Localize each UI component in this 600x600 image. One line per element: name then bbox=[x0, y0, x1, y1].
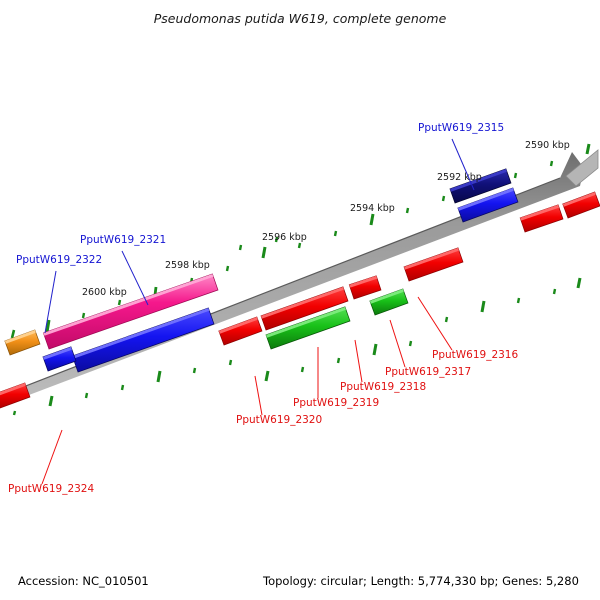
gene-label-PputW619_2321[interactable]: PputW619_2321 bbox=[80, 234, 166, 246]
gene-label-PputW619_2322[interactable]: PputW619_2322 bbox=[16, 254, 102, 266]
tick-label: 2590 kbp bbox=[525, 140, 570, 151]
label-leader-line bbox=[355, 340, 362, 382]
feature-body bbox=[43, 347, 76, 371]
label-leader-line bbox=[42, 430, 62, 484]
gene-right-red-a[interactable] bbox=[520, 205, 563, 232]
gene-label-PputW619_2315[interactable]: PputW619_2315 bbox=[418, 122, 504, 134]
accession-text: Accession: NC_010501 bbox=[18, 574, 149, 588]
tick-label: 2592 kbp bbox=[437, 172, 482, 183]
gene-label-PputW619_2319[interactable]: PputW619_2319 bbox=[293, 397, 379, 409]
gene-label-PputW619_2317[interactable]: PputW619_2317 bbox=[385, 366, 471, 378]
genome-stats-text: Topology: circular; Length: 5,774,330 bp… bbox=[262, 574, 579, 588]
gene-2324-red[interactable] bbox=[0, 383, 30, 408]
label-leader-line bbox=[45, 271, 56, 333]
label-leader-line bbox=[255, 376, 262, 415]
gene-2316-red[interactable] bbox=[404, 248, 463, 281]
gene-2317-red[interactable] bbox=[349, 276, 381, 299]
gene-orange[interactable] bbox=[5, 330, 40, 355]
tick-label: 2598 kbp bbox=[165, 260, 210, 271]
feature-body bbox=[349, 276, 381, 299]
page-title: Pseudomonas putida W619, complete genome bbox=[154, 11, 447, 26]
gene-2317-green[interactable] bbox=[370, 289, 408, 315]
feature-body bbox=[5, 330, 40, 355]
genome-map-viewer: Pseudomonas putida W619, complete genome bbox=[0, 0, 600, 600]
gene-right-red-b[interactable] bbox=[563, 192, 600, 218]
label-leader-line bbox=[418, 297, 452, 350]
gene-2320-red[interactable] bbox=[219, 317, 262, 345]
gene-label-PputW619_2318[interactable]: PputW619_2318 bbox=[340, 381, 426, 393]
label-leader-line bbox=[390, 320, 405, 367]
tick-label: 2600 kbp bbox=[82, 287, 127, 298]
genome-map-canvas[interactable]: Pseudomonas putida W619, complete genome bbox=[0, 0, 600, 600]
tick-label: 2596 kbp bbox=[262, 232, 307, 243]
gene-label-PputW619_2324[interactable]: PputW619_2324 bbox=[8, 483, 94, 495]
gene-2323-blue[interactable] bbox=[43, 347, 76, 371]
tick-label: 2594 kbp bbox=[350, 203, 395, 214]
gene-label-PputW619_2316[interactable]: PputW619_2316 bbox=[432, 349, 518, 361]
gene-label-PputW619_2320[interactable]: PputW619_2320 bbox=[236, 414, 322, 426]
